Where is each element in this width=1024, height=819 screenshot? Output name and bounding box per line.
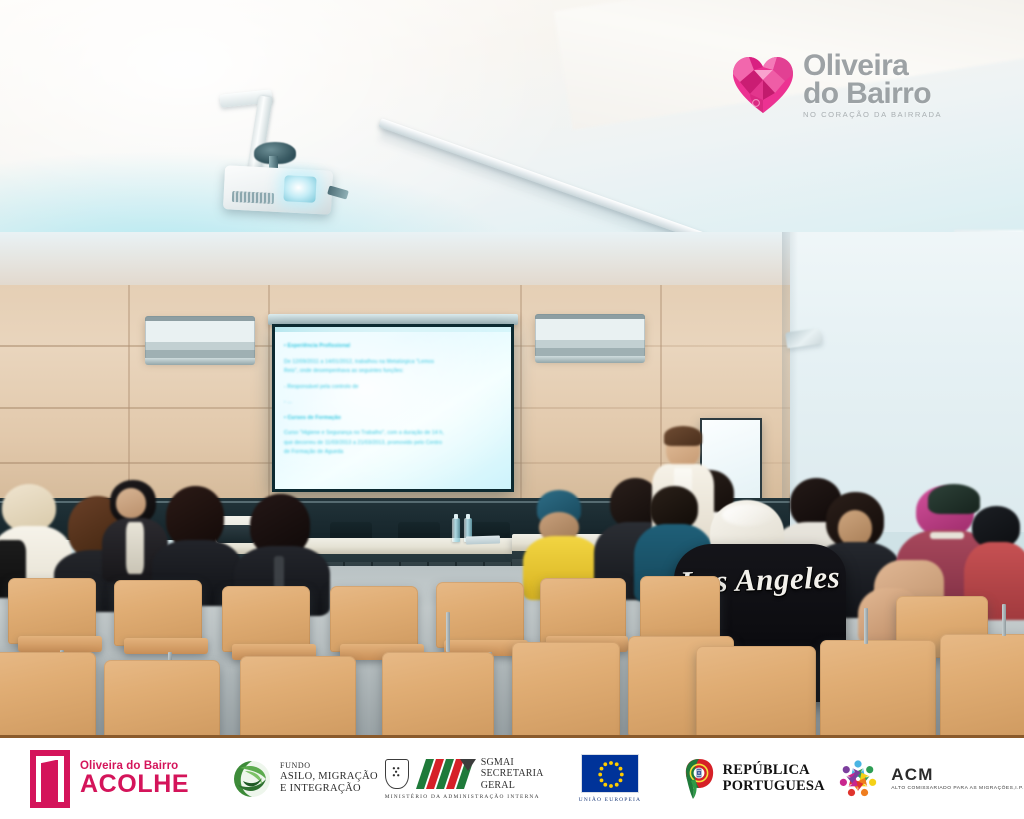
chair [540,578,626,644]
chair [0,652,96,735]
circle-of-people-icon [834,756,882,802]
portuguese-shield-icon [385,759,409,789]
open-door-icon [30,750,70,808]
projected-slide-content: • Experiência Profissional De 12/09/2011… [284,343,503,479]
sgmai-line3: GERAL [481,780,544,791]
chair [240,656,356,735]
wood-seam [520,285,522,500]
sgmai-subtitle: MINISTÉRIO DA ADMINISTRAÇÃO INTERNA [385,794,540,800]
chair [820,640,936,735]
republica-portuguesa-logo: REPÚBLICA PORTUGUESA [673,738,834,819]
slide-line: - ... [284,399,503,407]
slide-line: • Experiência Profissional [284,343,503,351]
slide-line: Reis", onde desempenhava as seguintes fu… [284,368,503,376]
partner-logo-bar: Oliveira do Bairro ACOLHE [0,735,1024,819]
fundo-line1: FUNDO [280,761,378,771]
projection-screen-surface: • Experiência Profissional De 12/09/2011… [275,327,511,489]
projection-screen: • Experiência Profissional De 12/09/2011… [272,324,514,492]
eu-caption: UNIÃO EUROPEIA [579,797,641,803]
watermark-line1: Oliveira [803,52,942,80]
fundo-ami-logo: FUNDO ASILO, MIGRAÇÃO E INTEGRAÇÃO [228,738,381,819]
rp-line1: REPÚBLICA [723,763,825,778]
watermark-text: Oliveira do Bairro NO CORAÇÃO DA BAIRRAD… [803,52,942,118]
slide-line: • Cursos de Formação [284,415,503,423]
watermark-tagline: NO CORAÇÃO DA BAIRRADA [803,111,942,118]
eu-logo: UNIÃO EUROPEIA [547,738,674,819]
eu-flag-icon [581,754,639,793]
acolhe-line2: ACOLHE [80,772,189,797]
sgmai-logo: SGMAI SECRETARIA GERAL MINISTÉRIO DA ADM… [382,738,547,819]
projector-vent-icon [232,191,275,204]
acm-line2: ALTO COMISSARIADO PARA AS MIGRAÇÕES,I.P. [891,786,1024,791]
fundo-line2: ASILO, MIGRAÇÃO [280,771,378,784]
acolhe-logo: Oliveira do Bairro ACOLHE [0,738,228,819]
chair [222,586,310,652]
chair-seat [124,638,208,654]
papers-on-table [466,535,500,544]
rp-line2: PORTUGUESA [723,779,825,794]
fundo-line3: E INTEGRAÇÃO [280,783,378,796]
slide-line: Curso "Higiene e Segurança no Trabalho",… [284,430,503,438]
heart-icon [732,56,794,114]
chair [114,580,202,646]
portuguese-coat-of-arms-icon [683,757,715,801]
chair [8,578,96,644]
projector-lens-icon [283,175,316,203]
chair [640,576,720,642]
chair [382,652,494,735]
conference-photo: • Experiência Profissional De 12/09/2011… [0,0,1024,735]
projector-body [223,165,333,215]
chair-leg [446,612,450,652]
screenshot-root: • Experiência Profissional De 12/09/2011… [0,0,1024,819]
chair-leg [864,608,868,644]
chair [512,642,620,735]
slide-line: - Responsável pela controlo de [284,384,503,392]
chair-leg [1002,604,1006,636]
sgmai-line1: SGMAI [481,757,544,768]
watermark-line2: do Bairro [803,80,942,108]
wall-air-conditioner-left [145,316,255,360]
chair [330,586,418,652]
chevrons-icon [414,759,476,789]
chair [940,634,1024,735]
ceiling-projector [206,96,356,216]
ac-louvre [535,356,645,363]
acm-logo: ACM ALTO COMISSARIADO PARA AS MIGRAÇÕES,… [834,738,1024,819]
slide-line: De 12/09/2011 a 14/01/2012, trabalhou na… [284,359,503,367]
green-globe-icon [232,759,272,799]
ac-louvre [145,358,255,365]
watermark-logo: Oliveira do Bairro NO CORAÇÃO DA BAIRRAD… [732,42,952,128]
slide-line: que decorreu de 11/03/2013 a 21/03/2013,… [284,440,503,448]
wood-seam [128,285,130,500]
slide-line: de Formação de Águeda [284,449,503,457]
upper-wall [0,232,790,288]
water-bottle [452,518,460,542]
wall-air-conditioner-right [535,314,645,358]
chair [696,646,816,735]
acm-line1: ACM [891,766,1024,783]
chair [104,660,220,735]
sgmai-line2: SECRETARIA [481,768,544,779]
